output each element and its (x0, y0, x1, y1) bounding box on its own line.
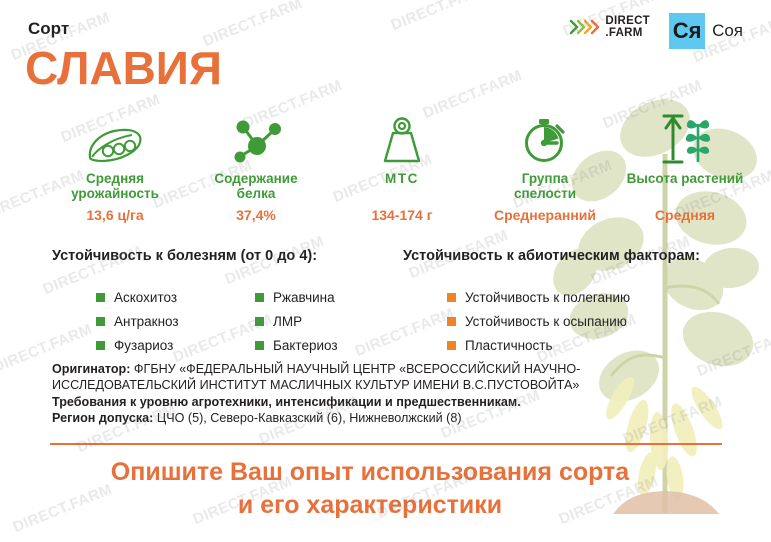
list-item-label: Устойчивость к полеганию (465, 290, 630, 305)
region-line: Регион допуска: ЦЧО (5), Северо-Кавказск… (52, 410, 702, 426)
cta-line-1: Опишите Ваш опыт использования сорта (0, 456, 740, 489)
list-item: Фузариоз (96, 338, 179, 353)
weight-icon (378, 116, 426, 166)
bullet-square-orange (447, 341, 456, 350)
brand-logo[interactable]: DIRECT .FARM (569, 15, 650, 39)
stat-value: 13,6 ц/га (50, 207, 180, 223)
stat-label-line1: Группа (522, 171, 569, 186)
list-item-label: Ржавчина (273, 290, 335, 305)
stat-plant-height: Высота растений Средняя (610, 108, 760, 223)
stat-label-line2: урожайность (71, 186, 159, 201)
list-item-label: ЛМР (273, 314, 302, 329)
originator-value-1: ФГБНУ «ФЕДЕРАЛЬНЫЙ НАУЧНЫЙ ЦЕНТР «ВСЕРОС… (130, 362, 580, 376)
stat-label: Средняя урожайность (50, 171, 180, 201)
diseases-title: Устойчивость к болезням (от 0 до 4): (52, 248, 317, 264)
list-item: ЛМР (255, 314, 338, 329)
stat-icon-slot (50, 108, 180, 166)
region-value: ЦЧО (5), Северо-Кавказский (6), Нижневол… (153, 411, 461, 425)
list-item: Аскохитоз (96, 290, 179, 305)
bullet-square-green (96, 341, 105, 350)
list-item-label: Бактериоз (273, 338, 338, 353)
list-item: Устойчивость к осыпанию (447, 314, 630, 329)
stat-value: Среднеранний (470, 207, 620, 223)
stat-label-line2: спелости (514, 186, 576, 201)
region-label: Регион допуска: (52, 411, 153, 425)
stat-label-line1: Содержание (214, 171, 297, 186)
diseases-list-left: Аскохитоз Антракноз Фузариоз (56, 290, 179, 362)
chevrons-icon (569, 17, 599, 37)
originator-label: Оригинатор: (52, 362, 130, 376)
stat-value: 37,4% (186, 207, 326, 223)
stat-label-line1: Высота растений (627, 171, 744, 186)
list-item: Бактериоз (255, 338, 338, 353)
pea-pod-icon (84, 124, 146, 166)
stat-value: Средняя (610, 207, 760, 223)
stat-label-line1: Средняя (86, 171, 144, 186)
list-item: Антракноз (96, 314, 179, 329)
abiotic-title: Устойчивость к абиотическим факторам: (403, 248, 700, 264)
stat-value: 134-174 г (332, 207, 472, 223)
bullet-square-green (96, 317, 105, 326)
requirements-text: Требования к уровню агротехники, интенси… (52, 395, 521, 409)
crop-badge: Ся Соя (669, 13, 743, 49)
divider (50, 443, 722, 445)
originator-line-1: Оригинатор: ФГБНУ «ФЕДЕРАЛЬНЫЙ НАУЧНЫЙ Ц… (52, 361, 702, 377)
bullet-square-green (255, 317, 264, 326)
molecule-icon (227, 118, 285, 166)
list-item-label: Антракноз (114, 314, 179, 329)
stat-maturity: Группа спелости Среднеранний (470, 108, 620, 223)
page-kicker: Сорт (28, 19, 69, 39)
stat-label: МТС (332, 171, 472, 186)
diseases-list-right: Ржавчина ЛМР Бактериоз (215, 290, 338, 362)
bullet-square-green (255, 293, 264, 302)
originator-block: Оригинатор: ФГБНУ «ФЕДЕРАЛЬНЫЙ НАУЧНЫЙ Ц… (52, 361, 702, 427)
logo-line-2: .FARM (605, 27, 650, 39)
list-item: Ржавчина (255, 290, 338, 305)
stat-label-line1: МТС (385, 171, 419, 186)
stat-label-line2: белка (237, 186, 276, 201)
crop-badge-label: Соя (712, 21, 743, 41)
stat-icon-slot (610, 108, 760, 166)
stat-yield: Средняя урожайность 13,6 ц/га (50, 108, 180, 223)
bullet-square-orange (447, 293, 456, 302)
stats-row: Средняя урожайность 13,6 ц/га Содержание… (40, 108, 740, 233)
stat-mts: МТС 134-174 г (332, 108, 472, 223)
cta-line-2: и его характеристики (0, 489, 740, 522)
list-item-label: Фузариоз (114, 338, 173, 353)
abiotic-list: Устойчивость к полеганию Устойчивость к … (407, 290, 630, 362)
plant-height-icon (654, 108, 716, 166)
originator-line-2: ИССЛЕДОВАТЕЛЬСКИЙ ИНСТИТУТ МАСЛИЧНЫХ КУЛ… (52, 377, 702, 393)
stat-icon-slot (186, 108, 326, 166)
page-title: СЛАВИЯ (25, 42, 222, 94)
stat-icon-slot (470, 108, 620, 166)
stat-icon-slot (332, 108, 472, 166)
crop-badge-code: Ся (669, 13, 705, 49)
list-item-label: Пластичность (465, 338, 553, 353)
list-item: Пластичность (447, 338, 630, 353)
bullet-square-orange (447, 317, 456, 326)
call-to-action: Опишите Ваш опыт использования сорта и е… (0, 456, 740, 522)
stat-protein: Содержание белка 37,4% (186, 108, 326, 223)
stat-label: Содержание белка (186, 171, 326, 201)
list-item-label: Аскохитоз (114, 290, 177, 305)
logo-line-1: DIRECT (605, 15, 650, 27)
bullet-square-green (255, 341, 264, 350)
list-item: Устойчивость к полеганию (447, 290, 630, 305)
requirements-line: Требования к уровню агротехники, интенси… (52, 394, 702, 410)
stat-label: Группа спелости (470, 171, 620, 201)
stopwatch-icon (519, 114, 571, 166)
bullet-square-green (96, 293, 105, 302)
list-item-label: Устойчивость к осыпанию (465, 314, 627, 329)
stat-label: Высота растений (610, 171, 760, 186)
